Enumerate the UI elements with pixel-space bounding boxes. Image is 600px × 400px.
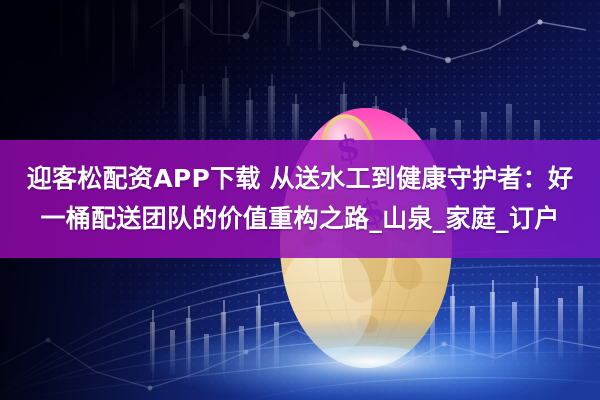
headline-text-block: 迎客松配资APP下载 从送水工到健康守护者：好 一桶配送团队的价值重构之路_山泉… — [0, 140, 600, 258]
banner-image: $ $ 迎客松配资APP下载 从送水工到健康守护者：好 一桶配送团队的价值重构之… — [0, 0, 600, 400]
headline-line-1: 迎客松配资APP下载 从送水工到健康守护者：好 — [27, 160, 574, 198]
headline-line-2: 一桶配送团队的价值重构之路_山泉_家庭_订户 — [40, 200, 559, 238]
